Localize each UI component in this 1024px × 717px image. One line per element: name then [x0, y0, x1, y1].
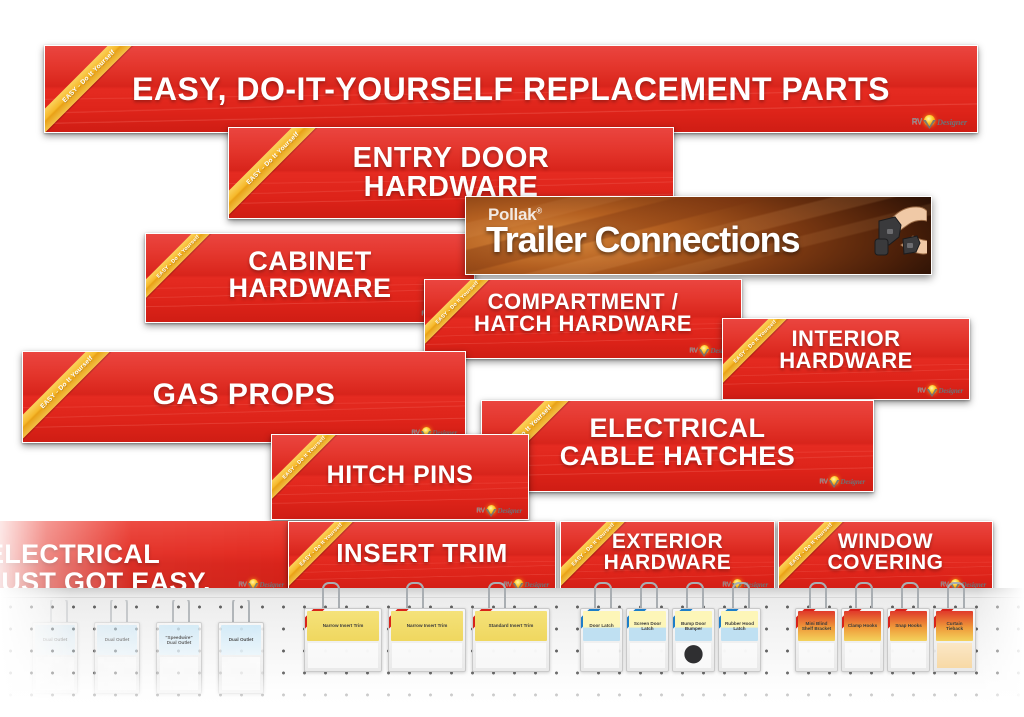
banner-title: EASY, DO-IT-YOURSELF REPLACEMENT PARTS	[45, 73, 977, 106]
logo-rv-text: RV	[722, 581, 730, 588]
product-label: Dual Outlet	[41, 637, 70, 642]
logo-designer-text: Designer	[841, 478, 865, 486]
easy-diy-ribbon: EASY - Do It Yourself	[723, 319, 819, 400]
banner-hitch-pins[interactable]: EASY - Do It Yourself HITCH PINS RV Desi…	[271, 434, 529, 520]
ribbon-label: EASY - Do It Yourself	[245, 131, 300, 186]
product-label: Narrow Insert Trim	[321, 623, 366, 628]
ribbon-label: EASY - Do It Yourself	[570, 522, 615, 567]
package-header: Narrow Insert Trim	[307, 611, 379, 641]
package-window	[937, 643, 972, 668]
logo-designer-text: Designer	[939, 387, 963, 395]
banner-swoosh	[481, 450, 874, 491]
product-label: Dual Outlet	[227, 637, 256, 642]
peg-hook	[640, 582, 658, 608]
sun-icon	[699, 345, 710, 356]
rv-designer-logo: RV Designer	[476, 505, 522, 516]
banner-title-line1: COMPARTMENT /	[425, 291, 741, 313]
banner-headline[interactable]: EASY - Do It Yourself EASY, DO-IT-YOURSE…	[44, 45, 978, 133]
banner-highlight	[779, 522, 992, 557]
banner-title: HITCH PINS	[272, 463, 528, 489]
banner-highlight	[425, 280, 741, 319]
banner-electrical-cable-hatches[interactable]: EASY - Do It Yourself ELECTRICAL CABLE H…	[481, 400, 874, 492]
package-window	[308, 643, 378, 668]
ribbon-label: EASY - Do It Yourself	[434, 280, 479, 325]
easy-diy-ribbon: EASY - Do It Yourself	[425, 280, 521, 359]
product-package[interactable]: Dual Outlet	[94, 622, 140, 694]
electrical-promo-text: ELECTRICAL JUST GOT EASY.	[0, 541, 292, 593]
package-header: "Speedwire" Dual Outlet	[159, 625, 199, 655]
product-label: "Speedwire" Dual Outlet	[159, 635, 199, 646]
sun-icon	[923, 115, 936, 128]
peg-hook	[406, 582, 424, 608]
ribbon-label: EASY - Do It Yourself	[281, 435, 326, 480]
package-window	[98, 657, 136, 690]
package-window	[160, 657, 198, 690]
registered-mark: ®	[536, 206, 542, 215]
package-header: Mini Blind Shelf Bracket	[798, 611, 835, 641]
product-label: Narrow Insert Trim	[405, 623, 450, 628]
peg-hook	[947, 582, 965, 608]
product-label: Door Latch	[587, 623, 615, 628]
logo-rv-text: RV	[476, 507, 484, 514]
banner-title-line1: ENTRY DOOR	[229, 144, 673, 174]
product-label: Standard Insert Trim	[487, 623, 536, 628]
ribbon-label: EASY - Do It Yourself	[298, 522, 343, 567]
package-window	[222, 657, 260, 690]
package-window	[891, 643, 926, 668]
ribbon-label: EASY - Do It Yourself	[61, 49, 116, 104]
peg-hook	[110, 596, 128, 622]
product-label: Rubber Hood Latch	[721, 621, 758, 632]
banner-title-line2: COVERING	[779, 552, 992, 573]
banner-electrical-just-got-easy[interactable]: ELECTRICAL JUST GOT EASY. RV Designer	[0, 521, 292, 593]
product-package[interactable]: Dual Outlet	[32, 622, 78, 694]
banner-highlight	[23, 352, 465, 397]
product-label: Bump Door Bumper	[675, 621, 712, 632]
banner-highlight	[272, 435, 528, 477]
easy-diy-ribbon: EASY - Do It Yourself	[23, 352, 155, 443]
banner-gas-props[interactable]: EASY - Do It Yourself GAS PROPS RV Desig…	[22, 351, 466, 443]
product-package[interactable]: NEW Mini Blind Shelf Bracket	[795, 608, 838, 672]
product-label: Snap Hooks	[893, 623, 924, 628]
peg-hook	[232, 596, 250, 622]
package-header: Snap Hooks	[890, 611, 927, 641]
shelf-section-window-covering: NEW Mini Blind Shelf Bracket NEW Clamp H…	[795, 590, 985, 710]
peg-hook	[322, 582, 340, 608]
poster-canvas: EASY - Do It Yourself EASY, DO-IT-YOURSE…	[0, 0, 1024, 717]
peg-hook	[809, 582, 827, 608]
logo-rv-text: RV	[912, 117, 922, 126]
product-package[interactable]: "Speedwire" Dual Outlet	[156, 622, 202, 694]
banner-title-line1: EXTERIOR	[561, 531, 774, 552]
product-package[interactable]: NEW Clamp Hooks	[841, 608, 884, 672]
logo-designer-text: Designer	[498, 507, 522, 515]
product-package[interactable]: NEW Door Latch	[580, 608, 623, 672]
banner-highlight	[229, 128, 673, 173]
product-package[interactable]: NEW Snap Hooks	[887, 608, 930, 672]
product-label: Clamp Hooks	[846, 623, 879, 628]
banner-title-line1: WINDOW	[779, 531, 992, 552]
logo-rv-text: RV	[819, 478, 827, 485]
package-header: Dual Outlet	[221, 625, 261, 655]
package-header: Curtain Tieback	[936, 611, 973, 641]
rv-designer-logo: RV Designer	[819, 476, 865, 487]
banner-compartment-hatch-hardware[interactable]: EASY - Do It Yourself COMPARTMENT / HATC…	[424, 279, 742, 359]
logo-rv-text: RV	[689, 347, 697, 354]
banner-title-line1: CABINET	[146, 248, 474, 276]
logo-designer-text: Designer	[937, 117, 967, 127]
peg-hook	[855, 582, 873, 608]
banner-title-line2: HATCH HARDWARE	[425, 313, 741, 335]
package-header: Standard Insert Trim	[475, 611, 547, 641]
banner-highlight	[289, 522, 555, 557]
package-header: Narrow Insert Trim	[391, 611, 463, 641]
sun-icon	[927, 385, 938, 396]
product-package[interactable]: NEW Rubber Hood Latch	[718, 608, 761, 672]
package-window	[845, 643, 880, 668]
peg-hook	[172, 596, 190, 622]
package-header: Bump Door Bumper	[675, 611, 712, 641]
product-label: Dual Outlet	[103, 637, 132, 642]
banner-title: GAS PROPS	[23, 380, 465, 411]
package-window	[799, 643, 834, 668]
peg-hook	[50, 596, 68, 622]
package-header: Screen Door Latch	[629, 611, 666, 641]
ribbon-label: EASY - Do It Yourself	[39, 355, 94, 410]
package-window	[584, 643, 619, 668]
banner-title-line2: HARDWARE	[561, 552, 774, 573]
peg-hook	[686, 582, 704, 608]
peg-hook	[732, 582, 750, 608]
banner-title-line1: INTERIOR	[723, 328, 969, 350]
ribbon-label: EASY - Do It Yourself	[788, 522, 833, 567]
product-package[interactable]: Dual Outlet	[218, 622, 264, 694]
package-header: Door Latch	[583, 611, 620, 641]
banner-highlight	[146, 234, 474, 278]
logo-rv-text: RV	[917, 387, 925, 394]
hands-plugging-trailer-connector-icon	[831, 199, 927, 273]
easy-diy-ribbon: EASY - Do It Yourself	[229, 128, 361, 219]
package-header: Rubber Hood Latch	[721, 611, 758, 641]
shelf-section-insert-trim: 1 PCS Narrow Insert Trim 1 PCS Narrow In…	[300, 590, 550, 710]
package-header: Dual Outlet	[97, 625, 137, 655]
banner-title: INSERT TRIM	[289, 540, 555, 567]
product-label: Mini Blind Shelf Bracket	[798, 621, 835, 632]
banner-swoosh	[424, 322, 742, 358]
package-window	[476, 643, 546, 668]
banner-swoosh	[271, 480, 529, 519]
product-package[interactable]: 1 PCS Narrow Insert Trim	[388, 608, 466, 672]
product-label: Screen Door Latch	[629, 621, 666, 632]
easy-diy-ribbon: EASY - Do It Yourself	[146, 234, 242, 323]
banner-interior-hardware[interactable]: EASY - Do It Yourself INTERIOR HARDWARE …	[722, 318, 970, 400]
product-package[interactable]: NEW Screen Door Latch	[626, 608, 669, 672]
banner-title-line1: ELECTRICAL	[482, 415, 873, 443]
banner-highlight	[45, 46, 977, 89]
banner-pollak-trailer-connections[interactable]: Pollak® Trailer Connections	[465, 196, 932, 275]
promo-line1: ELECTRICAL	[0, 541, 292, 569]
product-package[interactable]: NEW Bump Door Bumper	[672, 608, 715, 672]
ribbon-label: EASY - Do It Yourself	[732, 319, 777, 364]
ribbon-label: EASY - Do It Yourself	[155, 234, 200, 279]
shelf-section-electrical: Dual Outlet Dual Outlet "Speedwire" Dual…	[0, 600, 300, 710]
package-window	[676, 643, 711, 668]
rv-designer-logo: RV Designer	[912, 115, 967, 128]
banner-title-line2: HARDWARE	[723, 350, 969, 372]
sun-icon	[829, 476, 840, 487]
package-window	[392, 643, 462, 668]
banner-highlight	[561, 522, 774, 557]
product-package[interactable]: 1 PCS Narrow Insert Trim	[304, 608, 382, 672]
pollak-title: Trailer Connections	[486, 219, 799, 261]
peg-hook	[488, 582, 506, 608]
package-window	[36, 657, 74, 690]
banner-swoosh	[722, 362, 970, 399]
easy-diy-ribbon: EASY - Do It Yourself	[45, 46, 177, 133]
sun-icon	[486, 505, 497, 516]
peg-hook	[594, 582, 612, 608]
banner-highlight	[723, 319, 969, 359]
banner-highlight	[482, 401, 873, 446]
banner-title-line2: CABLE HATCHES	[482, 443, 873, 471]
easy-diy-ribbon: EASY - Do It Yourself	[272, 435, 368, 520]
package-window	[722, 643, 757, 668]
product-label: Curtain Tieback	[936, 621, 973, 632]
shelf-section-exterior-hardware: NEW Door Latch NEW Screen Door Latch NEW…	[580, 590, 770, 710]
product-package[interactable]: 1 PCS Standard Insert Trim	[472, 608, 550, 672]
peg-hook	[901, 582, 919, 608]
product-package[interactable]: NEW Curtain Tieback	[933, 608, 976, 672]
package-window	[630, 643, 665, 668]
rv-designer-logo: RV Designer	[917, 385, 963, 396]
package-header: Clamp Hooks	[844, 611, 881, 641]
package-header: Dual Outlet	[35, 625, 75, 655]
